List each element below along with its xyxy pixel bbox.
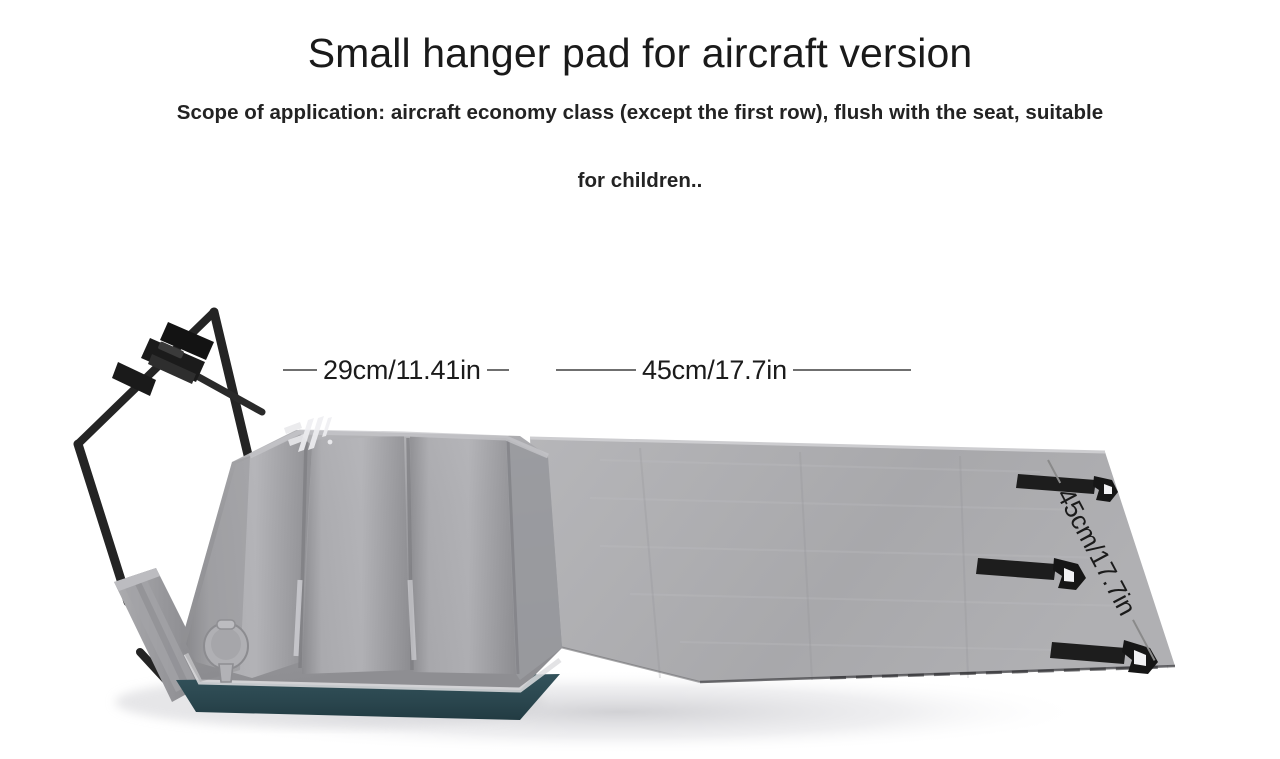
dimension-pillow-width: 29cm/11.41in — [283, 352, 509, 388]
leader-line-right — [793, 369, 911, 371]
dimension-mat-width-label: 45cm/17.7in — [642, 352, 787, 388]
leader-line-left — [283, 369, 317, 371]
dimension-mat-width: 45cm/17.7in — [556, 352, 911, 388]
inflatable-pillow — [176, 430, 562, 720]
dimension-pillow-width-label: 29cm/11.41in — [323, 352, 481, 388]
leader-line-end — [1132, 620, 1155, 661]
horizontal-dimension-annotations: 29cm/11.41in 45cm/17.7in — [0, 352, 1280, 388]
product-detail-image: Small hanger pad for aircraft version Sc… — [0, 0, 1280, 759]
leader-line-right — [487, 369, 509, 371]
leader-line-left — [556, 369, 636, 371]
page-title: Small hanger pad for aircraft version — [0, 26, 1280, 80]
description-line-1: Scope of application: aircraft economy c… — [0, 99, 1280, 127]
description-line-2: for children.. — [0, 167, 1280, 195]
leader-line-start — [1047, 460, 1061, 484]
